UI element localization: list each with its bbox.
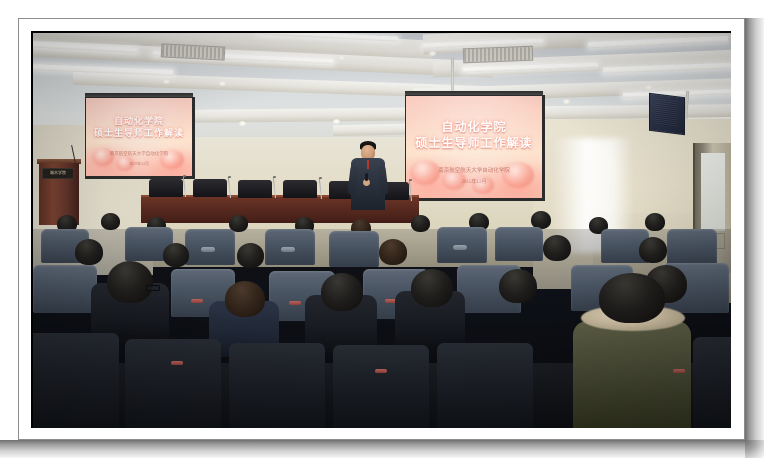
audience-head-mid-2	[163, 243, 189, 267]
audience-head-near-1	[107, 261, 153, 303]
seat-row3-9	[667, 229, 717, 265]
audience-head-mid-1	[75, 239, 103, 265]
seat-badge-row1-3	[673, 369, 685, 373]
seat-row3-7	[495, 227, 543, 261]
table-microphone-head-3	[273, 176, 276, 178]
audience-head-far-2	[101, 213, 120, 230]
seat-row2-1	[33, 265, 97, 313]
seat-badge-row1-1	[171, 361, 183, 365]
seat-row1-5	[437, 343, 533, 428]
lectern-name-plate: 端木学院	[42, 168, 74, 179]
seat-badge-row3-3	[453, 245, 467, 250]
seat-row1-4	[333, 345, 429, 428]
downlight-9	[563, 99, 570, 104]
downlight-6	[239, 121, 246, 126]
right-screen-subtitle-line2: 2015年12月	[406, 178, 542, 185]
downlight-7	[333, 119, 340, 124]
left-projection-screen: 自动化学院 硕士生导师工作解读 南京航空航天大学自动化学院 2015年12月	[86, 98, 192, 176]
right-door-pane	[701, 153, 725, 231]
head-table-chair-2	[193, 179, 227, 197]
audience-head-mid-4	[379, 239, 407, 265]
audience-head-near-4	[411, 269, 453, 307]
frame-shadow-corner	[745, 440, 764, 458]
audience-head-mid-5	[543, 235, 571, 261]
head-table-chair-3	[238, 180, 272, 198]
seat-row1-1	[31, 333, 119, 428]
downlight-4	[429, 51, 436, 56]
seat-row3-5	[329, 231, 379, 267]
table-microphone-head-4	[319, 177, 322, 179]
table-microphone-head-2	[228, 176, 231, 178]
audience-head-far-11	[645, 213, 665, 231]
audience-head-mid-6	[639, 237, 667, 263]
screenshot-canvas: 自动化学院 硕士生导师工作解读 南京航空航天大学自动化学院 2015年12月 自…	[0, 0, 764, 458]
table-microphone-head-1	[183, 175, 186, 177]
ac-vent-right	[463, 46, 534, 64]
seat-row1-6	[693, 337, 731, 428]
head-table-chair-4	[283, 180, 317, 198]
presenter-collar	[367, 160, 369, 169]
right-screen-title-line1: 自动化学院	[406, 118, 542, 135]
downlight-1	[163, 79, 170, 84]
seat-row1-2	[125, 339, 221, 428]
seat-badge-row2-2	[289, 301, 301, 305]
table-microphone-head-6	[409, 179, 412, 181]
audience-head-far-7	[411, 215, 430, 232]
head-table-chair-1	[149, 179, 183, 197]
audience-member-parka	[573, 321, 691, 428]
downlight-2	[219, 81, 226, 86]
seat-badge-row1-2	[375, 369, 387, 373]
audience-glasses	[146, 285, 160, 291]
left-screen-title-line2: 硕士生导师工作解读	[86, 126, 192, 139]
downlight-10	[645, 85, 652, 90]
wall-speaker-grille	[654, 99, 678, 128]
audience-head-parka	[599, 273, 665, 323]
audience-head-mid-3	[237, 243, 264, 268]
audience-head-near-5	[499, 269, 537, 303]
seat-badge-row2-1	[191, 299, 203, 303]
seat-badge-row3-1	[201, 247, 215, 252]
right-screen-title-line2: 硕士生导师工作解读	[406, 134, 542, 151]
left-screen-subtitle-line1: 南京航空航天大学自动化学院	[86, 151, 192, 157]
right-projection-screen: 自动化学院 硕士生导师工作解读 南京航空航天大学自动化学院 2015年12月	[406, 96, 542, 198]
frame-shadow-right	[745, 18, 764, 458]
right-screen-subtitle-line1: 南京航空航天大学自动化学院	[406, 166, 542, 174]
seat-row1-3	[229, 343, 325, 428]
frame-shadow-bottom	[0, 440, 764, 458]
lecture-hall-photo: 自动化学院 硕士生导师工作解读 南京航空航天大学自动化学院 2015年12月 自…	[31, 31, 731, 428]
left-screen-subtitle-line2: 2015年12月	[86, 161, 192, 167]
downlight-3	[338, 55, 345, 60]
presenter-microphone	[365, 173, 368, 181]
audience-head-near-2	[225, 281, 265, 317]
audience-head-near-3	[321, 273, 363, 311]
seat-badge-row3-2	[281, 247, 295, 252]
